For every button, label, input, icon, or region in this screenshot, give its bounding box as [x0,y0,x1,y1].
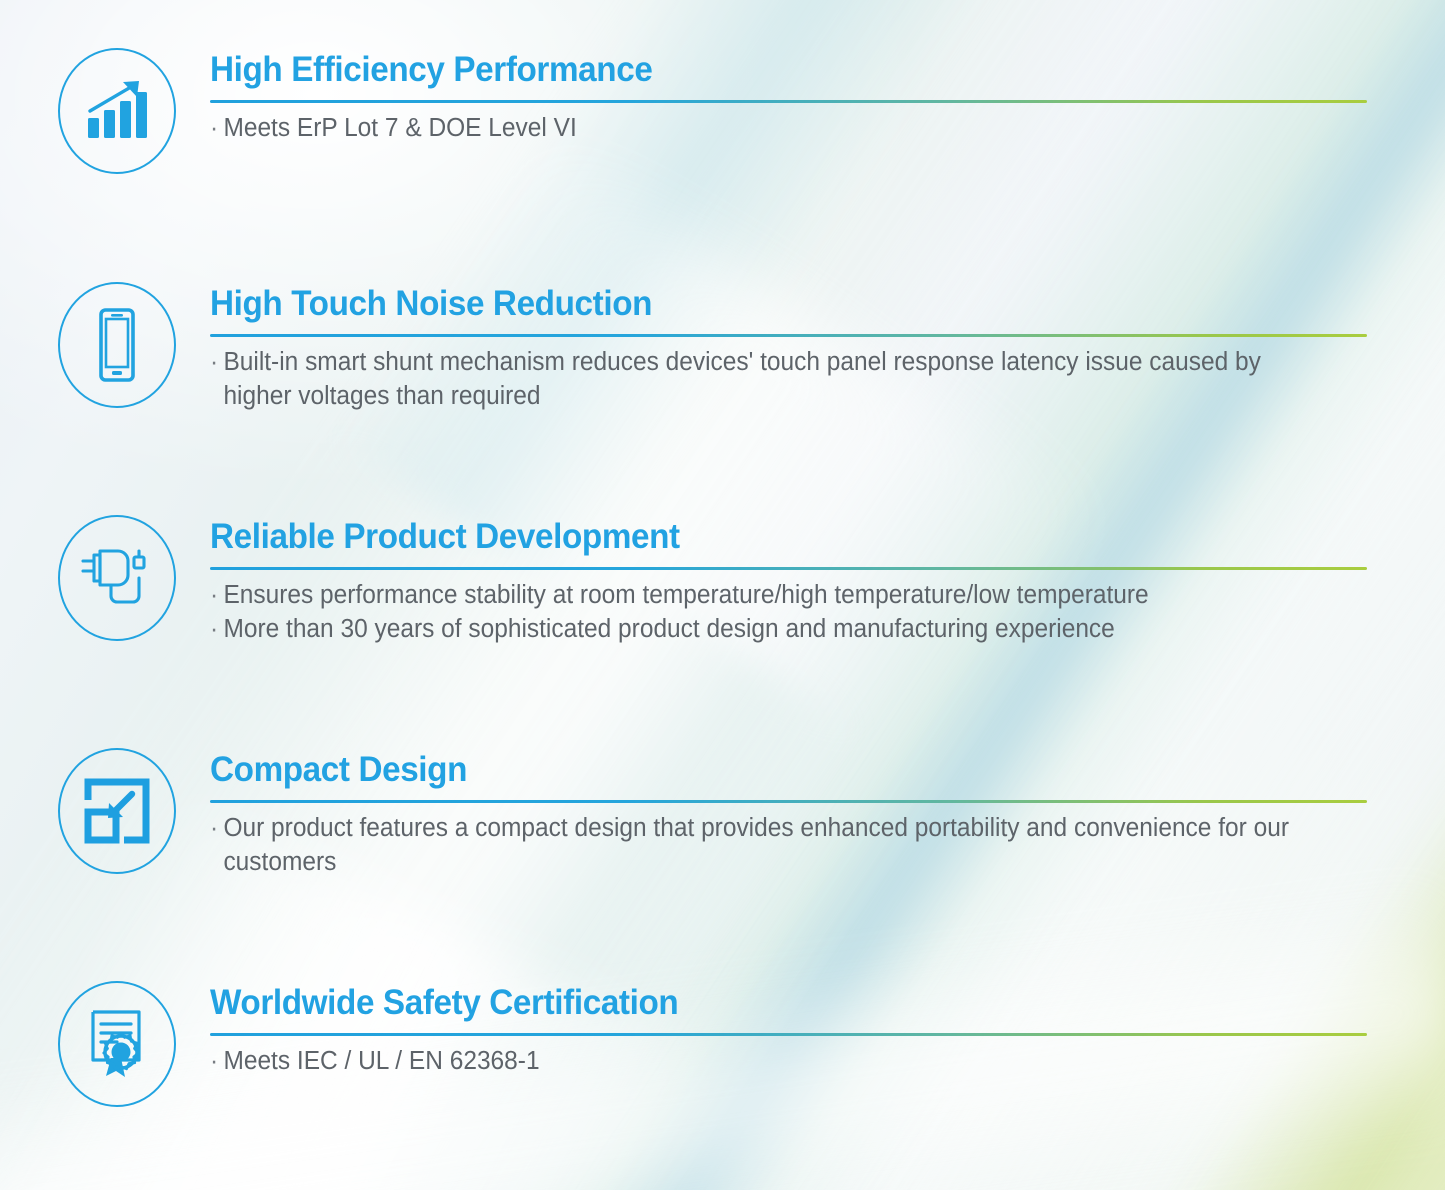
feature-icon-slot [52,981,182,1107]
bullet-text: Our product features a compact design th… [223,812,1320,880]
bullet-item: · Built-in smart shunt mechanism reduces… [210,346,1321,414]
bullet-text: More than 30 years of sophisticated prod… [223,613,1320,647]
feature-bullets: · Built-in smart shunt mechanism reduces… [210,346,1367,414]
feature-icon-slot [52,515,182,641]
feature-item-reliable-product-development: Reliable Product Development · Ensures p… [0,515,1445,647]
bullet-marker: · [210,112,223,146]
feature-title: Compact Design [210,750,1309,789]
compact-resize-icon [58,748,176,874]
feature-divider [210,334,1367,337]
feature-title: Reliable Product Development [210,517,1309,556]
feature-text-block: High Touch Noise Reduction · Built-in sm… [210,282,1367,414]
feature-icon-slot [52,48,182,174]
bullet-item: · More than 30 years of sophisticated pr… [210,613,1321,647]
feature-text-block: Worldwide Safety Certification · Meets I… [210,981,1367,1079]
bullet-marker: · [210,1045,223,1079]
feature-highlights-page: High Efficiency Performance · Meets ErP … [0,0,1445,1190]
feature-divider [210,100,1367,103]
feature-item-high-efficiency-performance: High Efficiency Performance · Meets ErP … [0,48,1445,174]
feature-divider [210,800,1367,803]
feature-title: High Efficiency Performance [210,50,1309,89]
bullet-item: · Meets IEC / UL / EN 62368-1 [210,1045,1321,1079]
feature-divider [210,567,1367,570]
feature-bullets: · Ensures performance stability at room … [210,579,1367,647]
bullet-text: Meets IEC / UL / EN 62368-1 [223,1045,1320,1079]
bullet-marker: · [210,613,223,647]
bullet-item: · Meets ErP Lot 7 & DOE Level VI [210,112,1321,146]
bar-chart-growth-icon [58,48,176,174]
feature-icon-slot [52,282,182,408]
feature-icon-slot [52,748,182,874]
feature-bullets: · Meets IEC / UL / EN 62368-1 [210,1045,1367,1079]
bullet-item: · Ensures performance stability at room … [210,579,1321,613]
feature-text-block: Reliable Product Development · Ensures p… [210,515,1367,647]
bullet-item: · Our product features a compact design … [210,812,1321,880]
feature-item-worldwide-safety-certification: Worldwide Safety Certification · Meets I… [0,981,1445,1107]
bullet-marker: · [210,579,223,613]
feature-divider [210,1033,1367,1036]
bullet-text: Ensures performance stability at room te… [223,579,1320,613]
feature-title: Worldwide Safety Certification [210,983,1309,1022]
bullet-marker: · [210,812,223,846]
certificate-award-icon [58,981,176,1107]
feature-title: High Touch Noise Reduction [210,284,1309,323]
feature-item-high-touch-noise-reduction: High Touch Noise Reduction · Built-in sm… [0,282,1445,414]
feature-bullets: · Meets ErP Lot 7 & DOE Level VI [210,112,1367,146]
bullet-text: Meets ErP Lot 7 & DOE Level VI [223,112,1320,146]
feature-item-compact-design: Compact Design · Our product features a … [0,748,1445,880]
feature-bullets: · Our product features a compact design … [210,812,1367,880]
bullet-marker: · [210,346,223,380]
feature-text-block: High Efficiency Performance · Meets ErP … [210,48,1367,146]
power-adapter-icon [58,515,176,641]
smartphone-icon [58,282,176,408]
feature-text-block: Compact Design · Our product features a … [210,748,1367,880]
bullet-text: Built-in smart shunt mechanism reduces d… [223,346,1320,414]
